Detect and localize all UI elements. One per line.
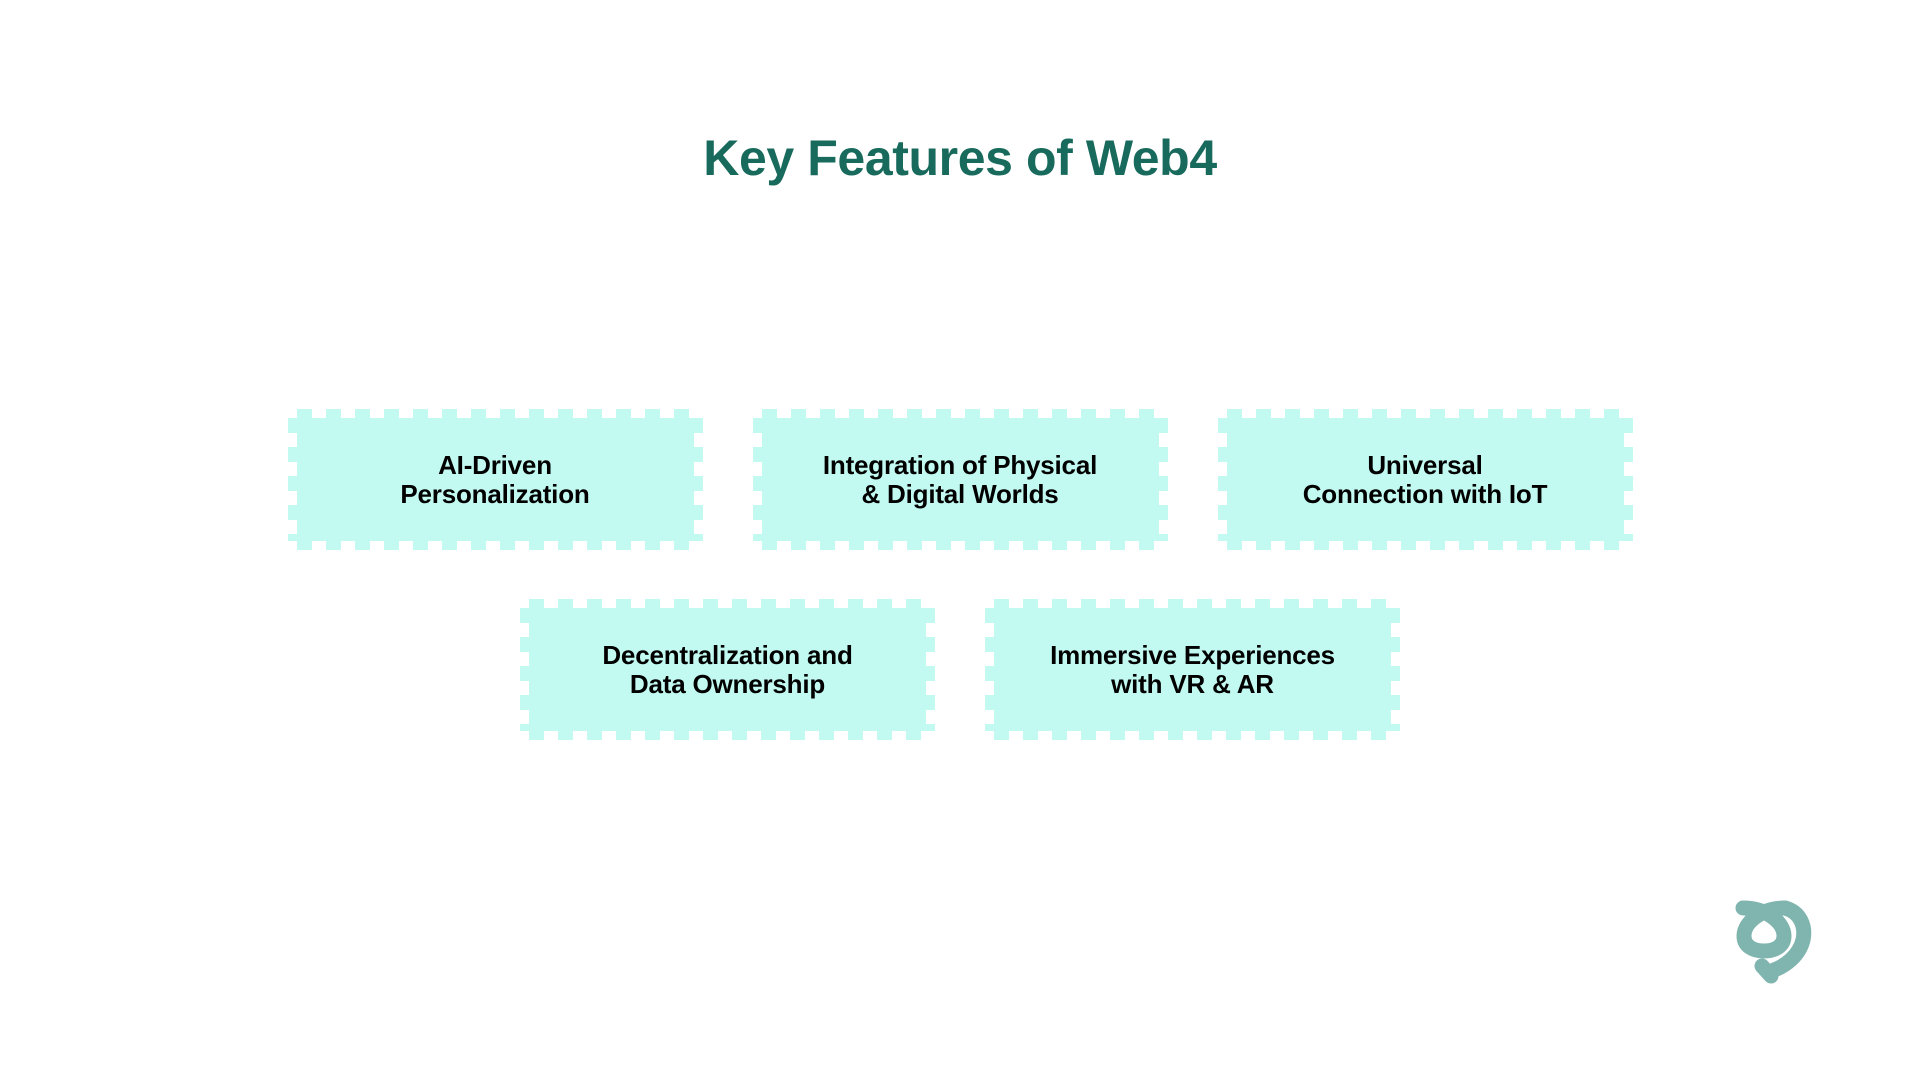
feature-card-label: Integration of Physical & Digital Worlds (823, 451, 1097, 507)
feature-card[interactable]: AI-Driven Personalization (288, 409, 703, 550)
feature-card-label: Decentralization and Data Ownership (602, 641, 852, 697)
feature-card-row-2: Decentralization and Data Ownership Imme… (0, 599, 1920, 740)
feature-card[interactable]: Decentralization and Data Ownership (520, 599, 935, 740)
page-title: Key Features of Web4 (0, 131, 1920, 185)
feature-card-label: Universal Connection with IoT (1303, 451, 1548, 507)
slide-canvas: Key Features of Web4 AI-Driven Personali… (0, 0, 1920, 1080)
feature-card[interactable]: Immersive Experiences with VR & AR (985, 599, 1400, 740)
feature-card-label: Immersive Experiences with VR & AR (1050, 641, 1335, 697)
feature-card[interactable]: Integration of Physical & Digital Worlds (753, 409, 1168, 550)
brand-logo-icon (1722, 888, 1818, 992)
feature-card-row-1: AI-Driven Personalization Integration of… (0, 409, 1920, 550)
feature-card-label: AI-Driven Personalization (400, 451, 589, 507)
feature-card[interactable]: Universal Connection with IoT (1218, 409, 1633, 550)
